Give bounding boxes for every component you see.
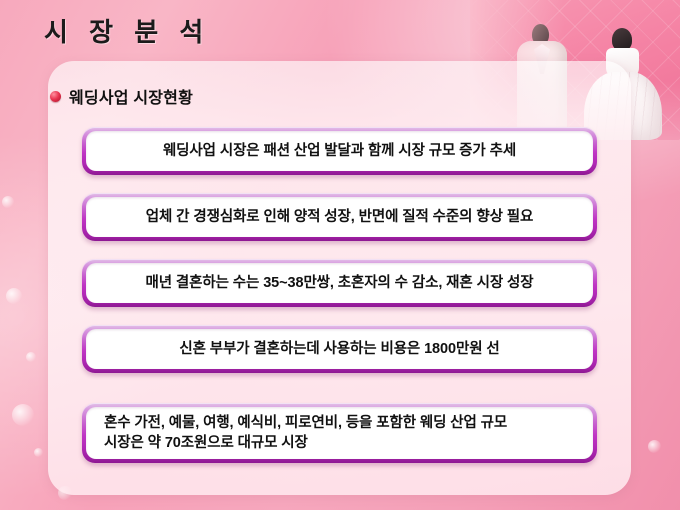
slide-canvas: 시 장 분 석 웨딩사업 시장현황 웨딩사업 시장은 패션 산업 발달과 함께 … bbox=[0, 0, 680, 510]
statement-box-inner: 웨딩사업 시장은 패션 산업 발달과 함께 시장 규모 증가 추세 bbox=[86, 131, 593, 171]
bokeh-sparkle-icon bbox=[2, 196, 14, 208]
section-heading-label: 웨딩사업 시장현황 bbox=[69, 84, 193, 108]
statement-box-inner: 혼수 가전, 예물, 여행, 예식비, 피로연비, 등을 포함한 웨딩 산업 규… bbox=[86, 407, 593, 459]
statement-box[interactable]: 신혼 부부가 결혼하는데 사용하는 비용은 1800만원 선 bbox=[82, 325, 597, 373]
statement-box-label: 웨딩사업 시장은 패션 산업 발달과 함께 시장 규모 증가 추세 bbox=[104, 141, 575, 161]
statement-box-label: 신혼 부부가 결혼하는데 사용하는 비용은 1800만원 선 bbox=[104, 339, 575, 359]
statement-box-label: 혼수 가전, 예물, 여행, 예식비, 피로연비, 등을 포함한 웨딩 산업 규… bbox=[104, 413, 575, 453]
bokeh-sparkle-icon bbox=[26, 352, 36, 362]
bokeh-sparkle-icon bbox=[12, 404, 34, 426]
bokeh-sparkle-icon bbox=[34, 448, 43, 457]
statement-box-inner: 신혼 부부가 결혼하는데 사용하는 비용은 1800만원 선 bbox=[86, 329, 593, 369]
statement-box-inner: 업체 간 경쟁심화로 인해 양적 성장, 반면에 질적 수준의 향상 필요 bbox=[86, 197, 593, 237]
statement-box[interactable]: 혼수 가전, 예물, 여행, 예식비, 피로연비, 등을 포함한 웨딩 산업 규… bbox=[82, 403, 597, 463]
statement-box-label: 업체 간 경쟁심화로 인해 양적 성장, 반면에 질적 수준의 향상 필요 bbox=[104, 207, 575, 227]
section-heading: 웨딩사업 시장현황 bbox=[50, 84, 193, 108]
statement-box[interactable]: 업체 간 경쟁심화로 인해 양적 성장, 반면에 질적 수준의 향상 필요 bbox=[82, 193, 597, 241]
statement-box[interactable]: 웨딩사업 시장은 패션 산업 발달과 함께 시장 규모 증가 추세 bbox=[82, 127, 597, 175]
page-title: 시 장 분 석 bbox=[44, 12, 210, 49]
statement-box-label: 매년 결혼하는 수는 35~38만쌍, 초혼자의 수 감소, 재혼 시장 성장 bbox=[104, 273, 575, 293]
statement-box-inner: 매년 결혼하는 수는 35~38만쌍, 초혼자의 수 감소, 재혼 시장 성장 bbox=[86, 263, 593, 303]
red-glossy-bullet-icon bbox=[50, 91, 61, 102]
bokeh-sparkle-icon bbox=[648, 440, 661, 453]
statement-box[interactable]: 매년 결혼하는 수는 35~38만쌍, 초혼자의 수 감소, 재혼 시장 성장 bbox=[82, 259, 597, 307]
bokeh-sparkle-icon bbox=[6, 288, 22, 304]
